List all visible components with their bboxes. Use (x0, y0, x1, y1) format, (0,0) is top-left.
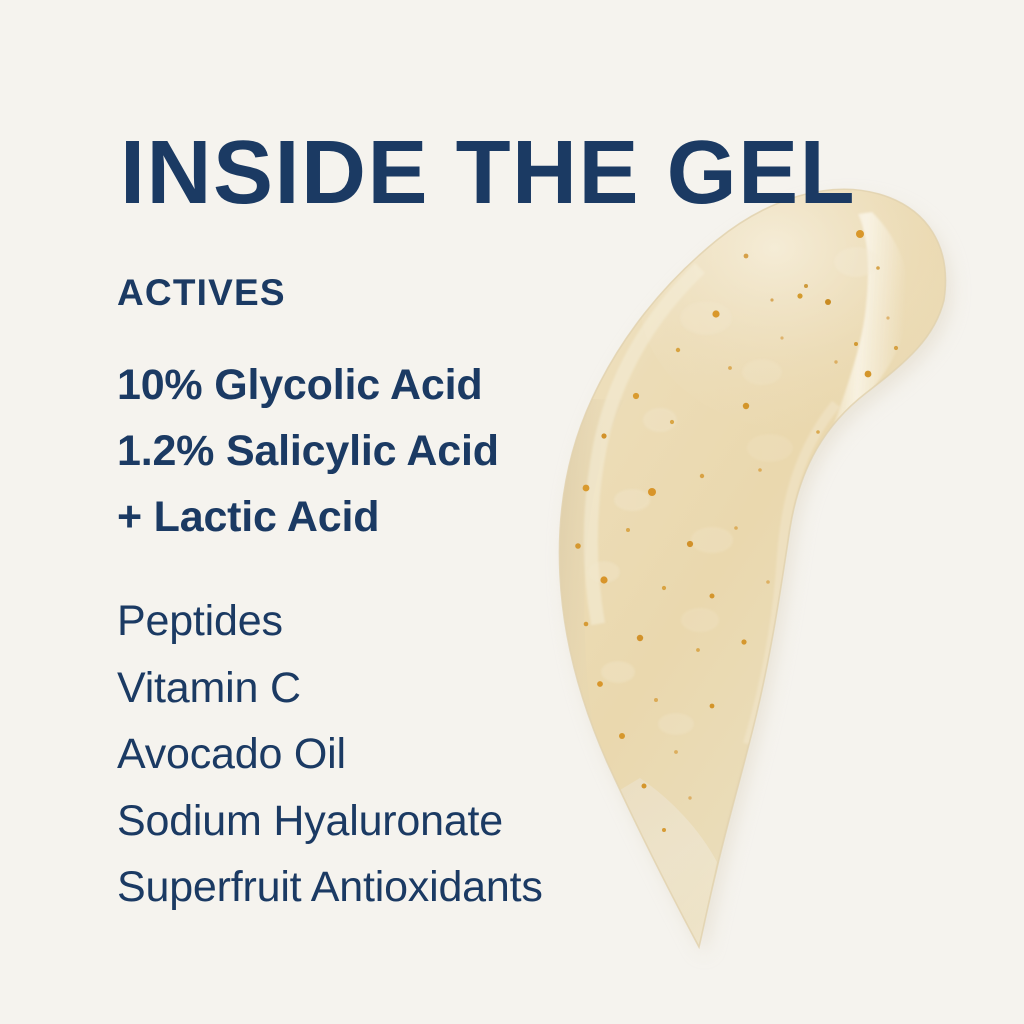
actives-ingredient-list: 10% Glycolic Acid 1.2% Salicylic Acid + … (117, 352, 499, 550)
list-item: Peptides (117, 588, 543, 655)
gel-body (559, 189, 945, 947)
list-item: 1.2% Salicylic Acid (117, 418, 499, 484)
list-item: Sodium Hyaluronate (117, 788, 543, 855)
list-item: Superfruit Antioxidants (117, 854, 543, 921)
list-item: Avocado Oil (117, 721, 543, 788)
product-ingredient-poster: INSIDE THE GEL ACTIVES 10% Glycolic Acid… (0, 0, 1024, 1024)
actives-section-label: ACTIVES (117, 272, 286, 314)
gel-specks (575, 230, 898, 832)
gel-texture (588, 247, 878, 735)
list-item: + Lactic Acid (117, 484, 499, 550)
gel-swatch-shadow (565, 198, 951, 956)
list-item: 10% Glycolic Acid (117, 352, 499, 418)
list-item: Vitamin C (117, 655, 543, 722)
supporting-ingredient-list: Peptides Vitamin C Avocado Oil Sodium Hy… (117, 588, 543, 921)
page-title: INSIDE THE GEL (120, 128, 856, 218)
gel-outline (559, 189, 945, 947)
